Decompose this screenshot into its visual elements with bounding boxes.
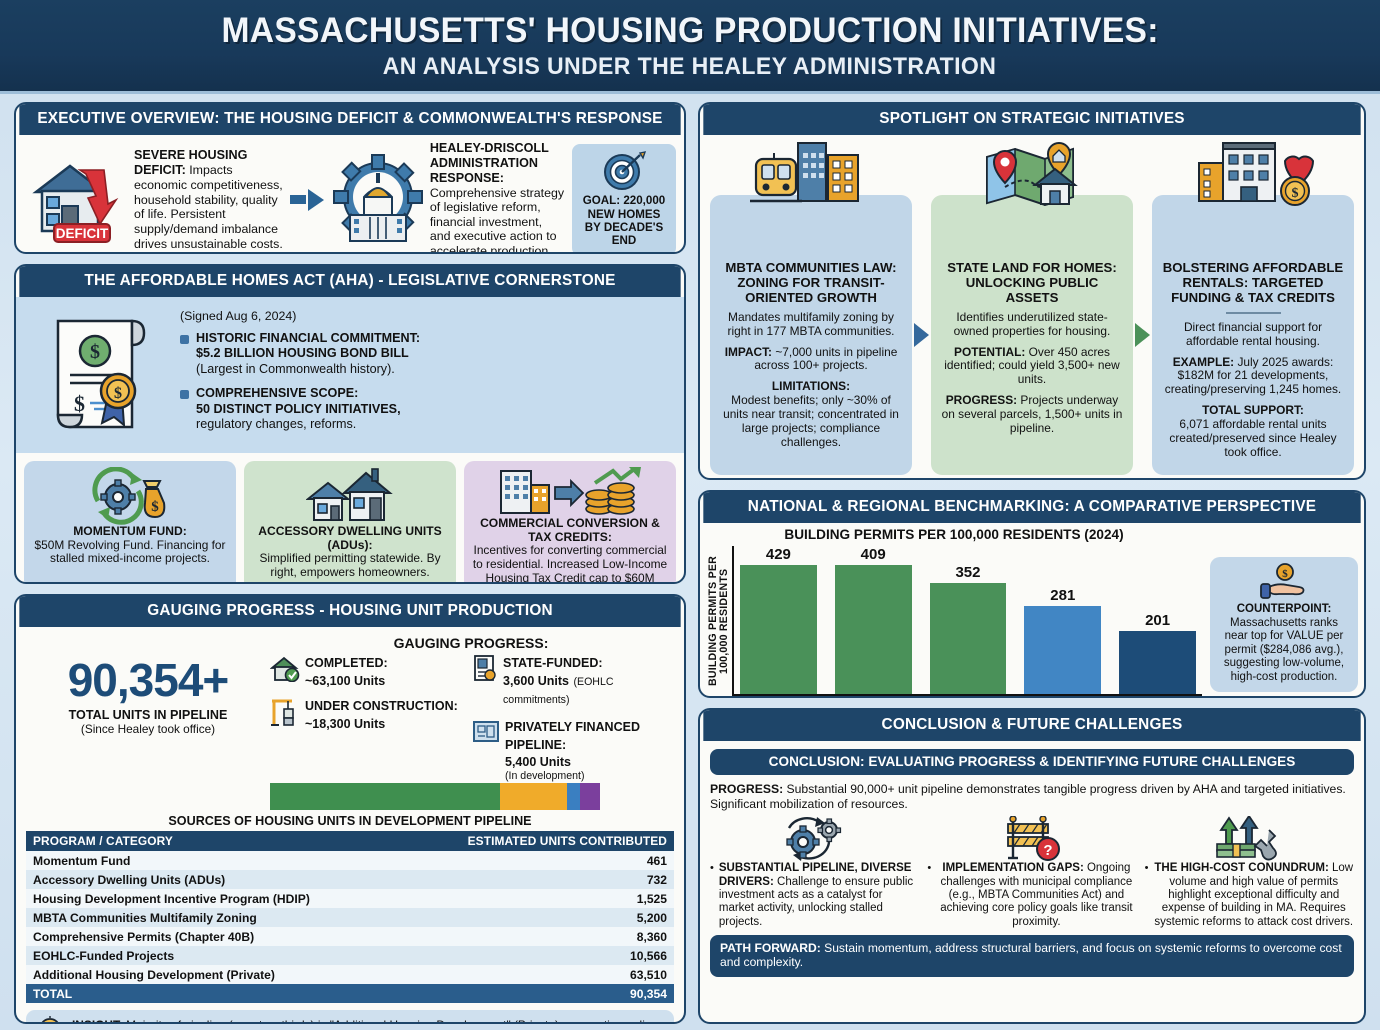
card-adu-title: ACCESSORY DWELLING UNITS (ADUs): <box>250 525 450 552</box>
panel-heading-gauging: GAUGING PROGRESS - HOUSING UNIT PRODUCTI… <box>19 596 680 627</box>
bar-value-national-average: 281 <box>1050 587 1075 604</box>
bar-value-vermont: 409 <box>861 546 886 563</box>
counterpoint-callout: $ COUNTERPOINT: Massachusetts ranks near… <box>1210 557 1358 692</box>
cell-program: MBTA Communities Multifamily Zoning <box>26 908 400 927</box>
cell-total-units: 90,354 <box>400 984 674 1003</box>
aha-bullet-2-sub: regulatory changes, reforms. <box>196 417 401 432</box>
card-commercial-conversion: COMMERCIAL CONVERSION & TAX CREDITS: Inc… <box>464 461 676 584</box>
blueprint-icon <box>472 718 500 744</box>
cell-units: 63,510 <box>400 965 674 984</box>
aha-bullet-2-title: COMPREHENSIVE SCOPE: <box>196 386 401 401</box>
bar-value-new-hampshire: 352 <box>955 564 980 581</box>
path-forward-callout: PATH FORWARD: Sustain momentum, address … <box>710 935 1354 977</box>
spotlight-card-mbta: MBTA COMMUNITIES LAW: ZONING FOR TRANSIT… <box>710 195 912 475</box>
bar-rect-national-average <box>1024 606 1101 695</box>
statehouse-gear-icon <box>332 153 424 247</box>
mbta-p2-label: IMPACT: <box>725 345 772 359</box>
aha-top-section: $ $ $ (Signed Aug 6, 2024) <box>16 297 684 453</box>
money-wrench-arrows-icon <box>1145 816 1354 862</box>
cell-program: Momentum Fund <box>26 851 400 870</box>
panel-executive-overview: EXECUTIVE OVERVIEW: THE HOUSING DEFICIT … <box>14 102 686 254</box>
bar-new-hampshire: 352 <box>930 546 1007 694</box>
conclusion-col-cost: • THE HIGH-COST CONUNDRUM: Low volume an… <box>1145 816 1354 929</box>
panel-affordable-homes-act: THE AFFORDABLE HOMES ACT (AHA) - LEGISLA… <box>14 264 686 584</box>
map-house-pins-icon <box>931 141 1133 207</box>
cell-units: 461 <box>400 851 674 870</box>
mbta-p3: Modest benefits; only ~30% of units near… <box>723 393 899 449</box>
table-row: Housing Development Incentive Program (H… <box>26 889 674 908</box>
conc-col3-label: THE HIGH-COST CONUNDRUM: <box>1154 862 1328 874</box>
counterpoint-label: COUNTERPOINT: <box>1237 603 1332 615</box>
conclusion-columns: • SUBSTANTIAL PIPELINE, DIVERSE DRIVERS:… <box>710 816 1354 929</box>
masthead: MASSACHUSETTS' HOUSING PRODUCTION INITIA… <box>0 0 1380 94</box>
spotlight-stateland-text: Identifies underutilized state-owned pro… <box>939 311 1125 436</box>
scroll-document-icon: $ $ $ <box>30 305 170 443</box>
house-check-icon <box>270 654 300 682</box>
conc-col2-label: IMPLEMENTATION GAPS: <box>942 862 1083 874</box>
goal-badge: GOAL: 220,000 NEW HOMES BY DECADE'S END <box>572 144 676 254</box>
stateland-p3-label: PROGRESS: <box>946 393 1017 407</box>
completed-value: ~63,100 Units <box>305 674 385 688</box>
page-body: EXECUTIVE OVERVIEW: THE HOUSING DEFICIT … <box>0 94 1380 1030</box>
spotlight-mbta-title: MBTA COMMUNITIES LAW: ZONING FOR TRANSIT… <box>718 261 904 306</box>
panel-conclusion: CONCLUSION & FUTURE CHALLENGES CONCLUSIO… <box>698 708 1366 1024</box>
insight-label: INSIGHT: <box>72 1018 123 1024</box>
card-adu: ACCESSORY DWELLING UNITS (ADUs): Simplif… <box>244 461 456 584</box>
aha-bullet-1-title: HISTORIC FINANCIAL COMMITMENT: <box>196 331 420 346</box>
spotlight-rentals-text: Direct financial support for affordable … <box>1160 321 1346 460</box>
pipeline-stacked-bar <box>270 783 600 810</box>
aha-bullet-2: COMPREHENSIVE SCOPE: 50 DISTINCT POLICY … <box>180 386 420 432</box>
aha-initiative-cards: $ MOMENTUM FUND: $50M Revolving Fund. Fi… <box>16 453 684 584</box>
bullet-dot-icon: • <box>927 862 931 929</box>
chart-title: BUILDING PERMITS PER 100,000 RESIDENTS (… <box>706 527 1202 542</box>
under-construction-label: UNDER CONSTRUCTION: <box>305 699 458 713</box>
progress-title: GAUGING PROGRESS: <box>270 635 672 651</box>
rentals-p2-label: EXAMPLE: <box>1173 355 1234 369</box>
bar-massachusetts: 201 <box>1119 546 1196 694</box>
table-row: Additional Housing Development (Private)… <box>26 965 674 984</box>
svg-text:$: $ <box>151 499 159 515</box>
response-title: HEALEY-DRISCOLL ADMINISTRATION RESPONSE: <box>430 141 549 185</box>
svg-text:$: $ <box>114 385 122 402</box>
response-text-block: HEALEY-DRISCOLL ADMINISTRATION RESPONSE:… <box>430 141 566 254</box>
deficit-text-block: SEVERE HOUSING DEFICIT: Impacts economic… <box>134 148 284 251</box>
right-column: SPOTLIGHT ON STRATEGIC INITIATIVES <box>698 102 1366 1024</box>
bar-rect-vermont <box>835 565 912 694</box>
private-note: (In development) <box>505 771 672 783</box>
bar-rect-massachusetts <box>1119 631 1196 694</box>
card-momentum-body: $50M Revolving Fund. Financing for stall… <box>30 539 230 567</box>
transit-buildings-icon <box>710 141 912 207</box>
aha-bullet-list: (Signed Aug 6, 2024) HISTORIC FINANCIAL … <box>180 305 420 441</box>
bullet-dot-icon: • <box>1145 862 1149 929</box>
bar-segment-state-funded <box>567 783 580 810</box>
rentals-p3-label: TOTAL SUPPORT: <box>1202 403 1304 417</box>
conclusion-progress: PROGRESS: Substantial 90,000+ unit pipel… <box>710 782 1354 811</box>
certificate-icon <box>472 654 498 682</box>
spotlight-arrow-2-icon <box>1135 323 1150 347</box>
path-forward-label: PATH FORWARD: <box>720 941 821 955</box>
mbta-p2: ~7,000 units in pipeline across 100+ pro… <box>754 345 897 373</box>
table-row: Comprehensive Permits (Chapter 40B)8,360 <box>26 927 674 946</box>
aha-signed-date: (Signed Aug 6, 2024) <box>180 309 420 324</box>
two-houses-icon <box>250 467 450 525</box>
progress-label: PROGRESS: <box>710 782 783 796</box>
target-icon <box>580 150 668 192</box>
bar-segment-completed <box>270 783 500 810</box>
insight-callout: INSIGHT: Majority of pipeline (over two-… <box>26 1010 674 1024</box>
card-commercial-body: Incentives for converting commercial to … <box>470 544 670 584</box>
house-deficit-icon: DEFICIT <box>24 152 128 248</box>
table-header-row: PROGRAM / CATEGORY ESTIMATED UNITS CONTR… <box>26 831 674 851</box>
panel-spotlight: SPOTLIGHT ON STRATEGIC INITIATIVES <box>698 102 1366 480</box>
th-units: ESTIMATED UNITS CONTRIBUTED <box>400 831 674 851</box>
counterpoint-text: Massachusetts ranks near top for VALUE p… <box>1224 617 1344 683</box>
gears-cycle-icon <box>710 816 919 862</box>
panel-benchmarking: NATIONAL & REGIONAL BENCHMARKING: A COMP… <box>698 490 1366 698</box>
chart-y-axis-label: BUILDING PERMITS PER 100,000 RESIDENTS <box>706 546 732 696</box>
card-momentum-title: MOMENTUM FUND: <box>30 525 230 539</box>
bar-national-average: 281 <box>1024 546 1101 694</box>
stateland-p1: Identifies underutilized state-owned pro… <box>939 311 1125 339</box>
conclusion-subheading: CONCLUSION: EVALUATING PROGRESS & IDENTI… <box>710 749 1354 775</box>
spotlight-stateland-title: STATE LAND FOR HOMES: UNLOCKING PUBLIC A… <box>939 261 1125 306</box>
cell-program: Housing Development Incentive Program (H… <box>26 889 400 908</box>
page-subtitle: AN ANALYSIS UNDER THE HEALEY ADMINISTRAT… <box>383 53 996 81</box>
spotlight-arrow-1-icon <box>914 323 929 347</box>
sources-table: PROGRAM / CATEGORY ESTIMATED UNITS CONTR… <box>26 831 674 1003</box>
cell-units: 732 <box>400 870 674 889</box>
bar-value-maine: 429 <box>766 546 791 563</box>
panel-heading-spotlight: SPOTLIGHT ON STRATEGIC INITIATIVES <box>703 104 1360 135</box>
crane-icon <box>270 697 300 727</box>
cell-units: 10,566 <box>400 946 674 965</box>
bar-rect-maine <box>740 565 817 694</box>
table-row: MBTA Communities Multifamily Zoning5,200 <box>26 908 674 927</box>
spotlight-cards: MBTA COMMUNITIES LAW: ZONING FOR TRANSIT… <box>708 193 1356 477</box>
spotlight-card-rentals: $ BOLSTERING AFFORDABLE RENTALS: TARGETE… <box>1152 195 1354 475</box>
building-to-coins-icon <box>470 467 670 517</box>
card-commercial-title: COMMERCIAL CONVERSION & TAX CREDITS: <box>470 517 670 544</box>
total-units-value: 90,354+ <box>32 657 264 703</box>
card-adu-body: Simplified permitting statewide. By righ… <box>250 552 450 580</box>
conclusion-col-gaps: ? • IMPLEMENTATION GAPS: Ongoing challen… <box>927 816 1136 929</box>
bar-segment-private <box>580 783 600 810</box>
mbta-p3-label: LIMITATIONS: <box>772 379 850 393</box>
bar-segment-under-construction <box>500 783 567 810</box>
aha-bullet-2-title2: 50 DISTINCT POLICY INITIATIVES, <box>196 402 401 417</box>
panel-gauging-progress: GAUGING PROGRESS - HOUSING UNIT PRODUCTI… <box>14 594 686 1024</box>
bar-rect-new-hampshire <box>930 583 1007 694</box>
cell-program: Comprehensive Permits (Chapter 40B) <box>26 927 400 946</box>
bullet-square-icon <box>180 390 189 399</box>
private-value: 5,400 Units <box>505 755 571 769</box>
panel-heading-conclusion: CONCLUSION & FUTURE CHALLENGES <box>703 710 1360 741</box>
svg-text:?: ? <box>1043 842 1052 859</box>
mbta-p1: Mandates multifamily zoning by right in … <box>718 311 904 339</box>
aha-bullet-1-sub: (Largest in Commonwealth history). <box>196 362 420 377</box>
table-row: Accessory Dwelling Units (ADUs)732 <box>26 870 674 889</box>
spotlight-rentals-title: BOLSTERING AFFORDABLE RENTALS: TARGETED … <box>1160 261 1346 306</box>
table-row: Momentum Fund461 <box>26 851 674 870</box>
state-funded-value: 3,600 Units <box>503 674 569 688</box>
completed-label: COMPLETED: <box>305 656 388 670</box>
sources-table-title: SOURCES OF HOUSING UNITS IN DEVELOPMENT … <box>26 814 674 828</box>
total-units-subcaption: (Since Healey took office) <box>32 722 264 736</box>
flow-arrow-icon <box>290 189 326 211</box>
bar-maine: 429 <box>740 546 817 694</box>
progress-item-under-construction: UNDER CONSTRUCTION: ~18,300 Units <box>270 697 466 733</box>
rentals-p1: Direct financial support for affordable … <box>1160 321 1346 349</box>
cell-program: EOHLC-Funded Projects <box>26 946 400 965</box>
permits-bar-chart: BUILDING PERMITS PER 100,000 RESIDENTS (… <box>706 527 1202 698</box>
progress-text: Substantial 90,000+ unit pipeline demons… <box>710 782 1346 811</box>
bullet-square-icon <box>180 335 189 344</box>
private-label: PRIVATELY FINANCED PIPELINE: <box>505 720 640 752</box>
goal-text: GOAL: 220,000 NEW HOMES BY DECADE'S END <box>580 194 668 247</box>
cell-units: 5,200 <box>400 908 674 927</box>
barrier-question-icon: ? <box>927 816 1136 862</box>
progress-breakdown: GAUGING PROGRESS: <box>270 635 672 810</box>
svg-text:$: $ <box>1292 186 1299 201</box>
hand-coin-icon: $ <box>1218 563 1350 603</box>
page-title: MASSACHUSETTS' HOUSING PRODUCTION INITIA… <box>221 11 1158 51</box>
table-row: EOHLC-Funded Projects10,566 <box>26 946 674 965</box>
card-momentum-fund: $ MOMENTUM FUND: $50M Revolving Fund. Fi… <box>24 461 236 584</box>
spotlight-card-state-land: STATE LAND FOR HOMES: UNLOCKING PUBLIC A… <box>931 195 1133 475</box>
progress-item-private: PRIVATELY FINANCED PIPELINE: 5,400 Units… <box>472 718 672 782</box>
benchmark-chart-section: BUILDING PERMITS PER 100,000 RESIDENTS (… <box>700 523 1364 698</box>
bar-value-massachusetts: 201 <box>1145 612 1170 629</box>
panel-heading-executive: EXECUTIVE OVERVIEW: THE HOUSING DEFICIT … <box>19 104 680 135</box>
chart-plot-area: 429 409 352 <box>732 546 1202 696</box>
total-units-block: 90,354+ TOTAL UNITS IN PIPELINE (Since H… <box>32 635 264 736</box>
gear-moneybag-icon: $ <box>30 467 230 525</box>
svg-text:$: $ <box>1282 568 1288 580</box>
conclusion-col-pipeline: • SUBSTANTIAL PIPELINE, DIVERSE DRIVERS:… <box>710 816 919 929</box>
aha-bullet-1-title2: $5.2 BILLION HOUSING BOND BILL <box>196 346 420 361</box>
bullet-dot-icon: • <box>710 862 714 929</box>
apartment-heart-coin-icon: $ <box>1152 141 1354 207</box>
state-funded-label: STATE-FUNDED: <box>503 656 603 670</box>
insight-text: Majority of pipeline (over two-thirds) i… <box>72 1018 657 1024</box>
total-units-caption: TOTAL UNITS IN PIPELINE <box>32 708 264 722</box>
spotlight-mbta-text: Mandates multifamily zoning by right in … <box>718 311 904 450</box>
progress-item-state-funded: STATE-FUNDED: 3,600 Units (EOHLC commitm… <box>472 654 672 708</box>
chart-x-axis-labels: MAINE VERMONT NEW HAMPSHIRE NATIONAL AVE… <box>732 696 1202 698</box>
cell-units: 8,360 <box>400 927 674 946</box>
progress-item-completed: COMPLETED: ~63,100 Units <box>270 654 466 690</box>
cell-program: Additional Housing Development (Private) <box>26 965 400 984</box>
cell-total-label: TOTAL <box>26 984 400 1003</box>
lightbulb-icon <box>36 1016 64 1024</box>
divider <box>1226 312 1281 314</box>
left-column: EXECUTIVE OVERVIEW: THE HOUSING DEFICIT … <box>14 102 686 1024</box>
panel-heading-benchmarking: NATIONAL & REGIONAL BENCHMARKING: A COMP… <box>703 492 1360 523</box>
response-body: Comprehensive strategy of legislative re… <box>430 186 564 254</box>
stateland-p2-label: POTENTIAL: <box>954 345 1025 359</box>
aha-bullet-1: HISTORIC FINANCIAL COMMITMENT: $5.2 BILL… <box>180 331 420 377</box>
panel-heading-aha: THE AFFORDABLE HOMES ACT (AHA) - LEGISLA… <box>19 266 680 297</box>
svg-text:DEFICIT: DEFICIT <box>56 226 109 241</box>
rentals-p3: 6,071 affordable rental units created/pr… <box>1169 417 1336 459</box>
gauging-summary: 90,354+ TOTAL UNITS IN PIPELINE (Since H… <box>26 631 674 810</box>
under-construction-value: ~18,300 Units <box>305 717 385 731</box>
bar-vermont: 409 <box>835 546 912 694</box>
cell-program: Accessory Dwelling Units (ADUs) <box>26 870 400 889</box>
th-program: PROGRAM / CATEGORY <box>26 831 400 851</box>
cell-units: 1,525 <box>400 889 674 908</box>
svg-text:$: $ <box>90 341 100 363</box>
table-total-row: TOTAL90,354 <box>26 984 674 1003</box>
svg-text:$: $ <box>74 391 85 416</box>
